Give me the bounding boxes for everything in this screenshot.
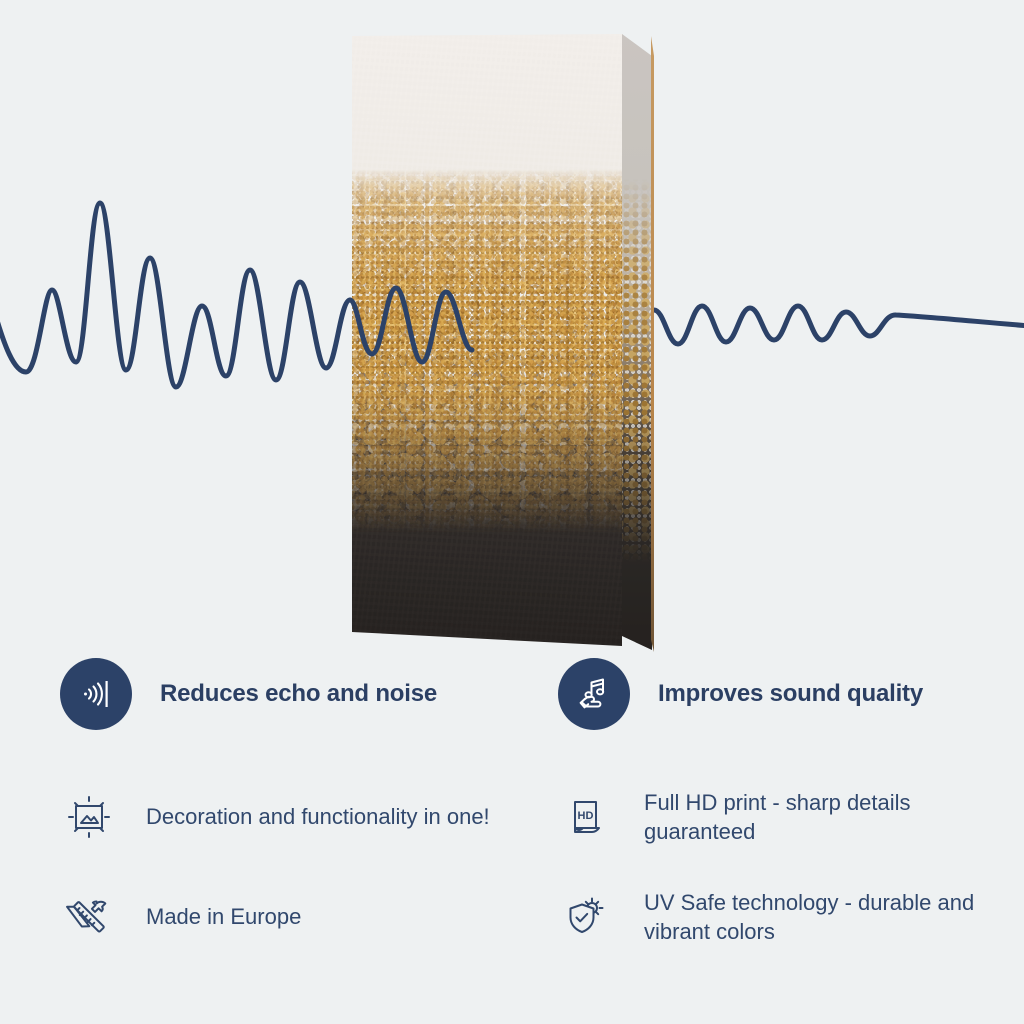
sound-waves-barrier-icon [74,672,118,716]
artwork-texture [352,34,622,646]
uv-shield-sun-icon-wrap [558,888,616,946]
feature-label: Improves sound quality [658,680,923,709]
music-note-hand-badge [558,658,630,730]
framed-picture-shine-icon [63,791,115,843]
feature-uv-safe: UV Safe technology - durable and vibrant… [558,888,1024,947]
ruler-hammer-icon-wrap [60,888,118,946]
feature-label: UV Safe technology - durable and vibrant… [644,888,1024,947]
canvas-side-specks [622,30,652,650]
framed-picture-shine-icon-wrap [60,788,118,846]
hd-print-icon-wrap: HD [558,788,616,846]
feature-label: Decoration and functionality in one! [146,802,490,831]
uv-shield-sun-icon [561,891,613,943]
hd-badge-text: HD [578,810,594,822]
feature-full-hd-print: HD Full HD print - sharp details guarant… [558,788,1024,847]
canvas-side-edge [622,30,652,650]
feature-label: Made in Europe [146,902,301,931]
sound-waves-barrier-badge [60,658,132,730]
feature-reduces-echo: Reduces echo and noise [60,658,437,730]
feature-label: Full HD print - sharp details guaranteed [644,788,1024,847]
feature-list: Reduces echo and noise [0,640,1024,1024]
waveform-path-right [654,306,1024,344]
canvas-print-product [352,30,660,652]
feature-improves-sound: Improves sound quality [558,658,923,730]
canvas-front-face [352,34,622,646]
feature-made-in-europe: Made in Europe [60,888,301,946]
feature-label: Reduces echo and noise [160,680,437,709]
music-note-hand-icon [571,671,617,717]
feature-decoration-functionality: Decoration and functionality in one! [60,788,490,846]
hd-print-icon: HD [561,791,613,843]
ruler-hammer-icon [63,891,115,943]
infographic-stage: Reduces echo and noise [0,0,1024,1024]
canvas-stretcher-bar [651,36,654,652]
